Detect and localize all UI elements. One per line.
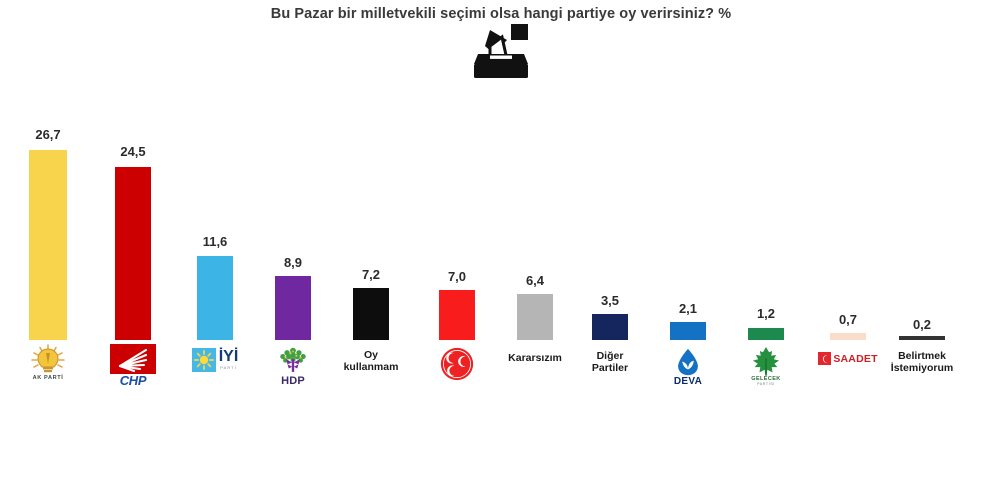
deva-logo xyxy=(675,348,701,376)
chp-logo xyxy=(110,344,156,374)
gelecek-logo-subtext: PARTİSİ xyxy=(757,382,775,386)
deva-logo-text: DEVA xyxy=(674,376,702,387)
bar-rect-oy-kullanmam[interactable] xyxy=(353,288,389,340)
bar-rect-mhp[interactable] xyxy=(439,290,475,340)
iyi-parti-logo-subtext: PARTİ xyxy=(219,365,239,370)
bar-rect-gelecek[interactable] xyxy=(748,328,784,340)
hdp-logo xyxy=(276,346,310,374)
gelecek-logo xyxy=(752,346,780,376)
iyi-parti-sun-icon xyxy=(192,348,216,372)
bar-label-line1: Belirtmek xyxy=(874,350,970,362)
iyi-parti-logo: İYİ PARTİ xyxy=(192,348,239,372)
bar-label-line2: İstemiyorum xyxy=(874,362,970,374)
saadet-crescent-icon xyxy=(818,352,831,365)
bar-chart-plot-area: 26,7 xyxy=(0,0,1002,489)
ak-parti-logo xyxy=(24,344,72,376)
mhp-logo xyxy=(440,347,474,381)
bar-label-belirtmek-istemiyorum: Belirtmek İstemiyorum xyxy=(874,350,970,375)
iyi-parti-logo-text: İYİ xyxy=(219,350,239,364)
bar-value-belirtmek-istemiyorum: 0,2 xyxy=(874,318,970,331)
bar-rect-kararsizim[interactable] xyxy=(517,294,553,340)
saadet-logo-text: SAADET xyxy=(833,353,877,365)
bar-label-line2: kullanmam xyxy=(323,361,419,373)
hdp-logo-text: HDP xyxy=(281,375,305,387)
bar-rect-hdp[interactable] xyxy=(275,276,311,340)
bar-group-oy-kullanmam: 7,2 Oy kullanmam xyxy=(323,0,419,489)
chp-logo-text: CHP xyxy=(110,374,156,388)
bar-rect-ak-parti[interactable] xyxy=(29,150,67,340)
bar-rect-chp[interactable] xyxy=(115,167,151,340)
bar-group-belirtmek-istemiyorum: 0,2 Belirtmek İstemiyorum xyxy=(874,0,970,489)
saadet-logo: SAADET xyxy=(818,352,877,365)
bar-rect-diger-partiler[interactable] xyxy=(592,314,628,340)
bar-value-oy-kullanmam: 7,2 xyxy=(323,268,419,281)
bar-value-ak-parti: 26,7 xyxy=(0,128,96,141)
bar-rect-iyi-parti[interactable] xyxy=(197,256,233,340)
bar-rect-belirtmek-istemiyorum[interactable] xyxy=(899,336,945,340)
bar-label-line1: Oy xyxy=(323,349,419,361)
bar-group-ak-parti: 26,7 xyxy=(0,0,96,489)
ak-parti-logo-text: AK PARTİ xyxy=(33,375,64,381)
bar-rect-deva[interactable] xyxy=(670,322,706,340)
logo-ak-parti: AK PARTİ xyxy=(0,344,96,381)
bar-rect-saadet[interactable] xyxy=(830,333,866,340)
bar-label-oy-kullanmam: Oy kullanmam xyxy=(323,349,419,374)
poll-chart-root: Bu Pazar bir milletvekili seçimi olsa ha… xyxy=(0,0,1002,489)
